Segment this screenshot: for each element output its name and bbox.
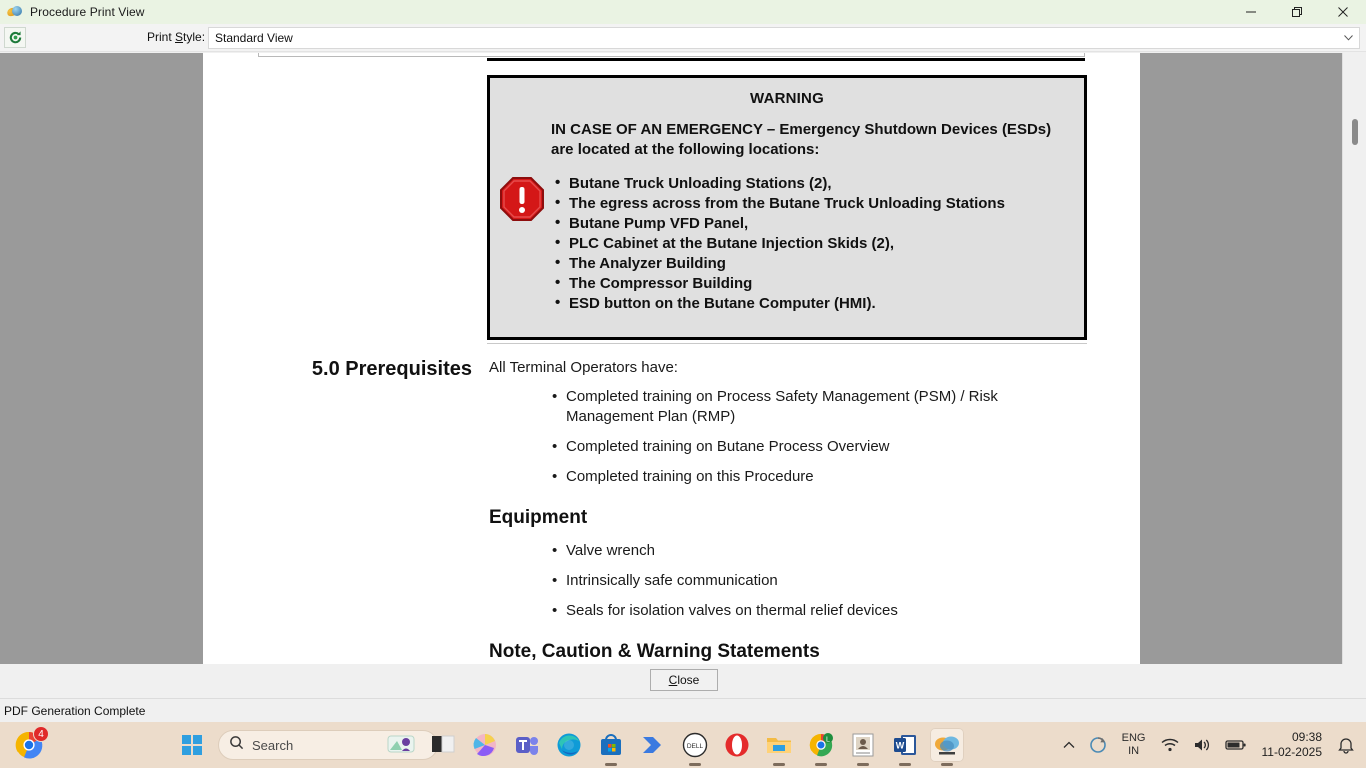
system-tray: ENG IN 09:38 11-02- xyxy=(1056,722,1366,768)
warning-esd-location-list: Butane Truck Unloading Stations (2), The… xyxy=(553,174,1005,314)
procedure-print-view-window: Procedure Print View xyxy=(0,0,1366,722)
list-item: Completed training on Butane Process Ove… xyxy=(489,437,1089,457)
maximize-restore-button[interactable] xyxy=(1274,0,1320,24)
warning-callout-box: WARNING IN CASE OF AN EMERGENCY – Emerge… xyxy=(487,75,1087,340)
list-item: The Analyzer Building xyxy=(553,254,1005,274)
power-automate-icon[interactable] xyxy=(636,728,670,762)
chrome-icon[interactable]: L xyxy=(804,728,838,762)
windows-start-icon[interactable] xyxy=(172,722,212,768)
document-scrollbar[interactable] xyxy=(1342,53,1366,664)
search-icon xyxy=(229,735,244,755)
document-page: WARNING IN CASE OF AN EMERGENCY – Emerge… xyxy=(203,53,1140,664)
section-heading-prerequisites: 5.0 Prerequisites xyxy=(257,358,472,381)
prerequisites-list: Completed training on Process Safety Man… xyxy=(489,387,1089,487)
octagon-exclamation-icon xyxy=(499,176,545,222)
procedure-print-view-icon xyxy=(7,4,23,20)
prerequisites-intro: All Terminal Operators have: xyxy=(489,358,1089,378)
speaker-icon[interactable] xyxy=(1186,722,1218,768)
title-bar: Procedure Print View xyxy=(0,0,1366,24)
list-item: Butane Pump VFD Panel, xyxy=(553,214,1005,234)
file-explorer-icon[interactable] xyxy=(762,728,796,762)
list-item: PLC Cabinet at the Butane Injection Skid… xyxy=(553,234,1005,254)
list-item: Completed training on this Procedure xyxy=(489,467,1089,487)
list-item: Completed training on Process Safety Man… xyxy=(489,387,1089,427)
clock[interactable]: 09:38 11-02-2025 xyxy=(1254,722,1331,768)
teams-icon[interactable] xyxy=(510,728,544,762)
photos-icon[interactable] xyxy=(468,728,502,762)
taskbar-app-buttons: DELL xyxy=(384,722,964,768)
equipment-heading: Equipment xyxy=(489,507,1089,529)
section-rule-top xyxy=(487,58,1085,61)
svg-text:DELL: DELL xyxy=(687,743,704,750)
language-line-2: IN xyxy=(1128,745,1139,758)
button-bar: Close xyxy=(0,664,1366,698)
procedure-print-view-icon[interactable] xyxy=(930,728,964,762)
notification-badge: 4 xyxy=(33,726,49,742)
list-item: The egress across from the Butane Truck … xyxy=(553,194,1005,214)
list-item: Valve wrench xyxy=(489,541,1089,561)
minimize-button[interactable] xyxy=(1228,0,1274,24)
equipment-list: Valve wrench Intrinsically safe communic… xyxy=(489,541,1089,621)
close-dialog-button[interactable]: Close xyxy=(650,669,718,691)
dell-icon[interactable]: DELL xyxy=(678,728,712,762)
chevron-down-icon xyxy=(1344,34,1353,44)
clock-date: 11-02-2025 xyxy=(1262,745,1323,760)
notification-bell-icon[interactable] xyxy=(1330,722,1362,768)
windows-taskbar: 4 Search xyxy=(0,722,1366,768)
search-placeholder: Search xyxy=(252,738,293,753)
window-controls xyxy=(1228,0,1366,24)
list-item: Seals for isolation valves on thermal re… xyxy=(489,601,1089,621)
window-title: Procedure Print View xyxy=(30,5,145,19)
print-style-select[interactable]: Standard View xyxy=(208,27,1360,49)
taskbar-left-group: 4 xyxy=(12,722,46,768)
language-indicator[interactable]: ENG IN xyxy=(1114,722,1154,768)
list-item: Intrinsically safe communication xyxy=(489,571,1089,591)
list-item: Butane Truck Unloading Stations (2), xyxy=(553,174,1005,194)
opera-icon[interactable] xyxy=(720,728,754,762)
battery-icon[interactable] xyxy=(1218,722,1254,768)
svg-text:W: W xyxy=(896,741,905,751)
sync-icon[interactable] xyxy=(1082,722,1114,768)
print-style-value: Standard View xyxy=(209,31,293,45)
language-line-1: ENG xyxy=(1122,732,1146,745)
snipping-tool-icon[interactable] xyxy=(426,728,460,762)
warning-lead-text: IN CASE OF AN EMERGENCY – Emergency Shut… xyxy=(551,120,1064,160)
print-style-label: Print Style: xyxy=(147,30,205,44)
whiteboard-icon[interactable] xyxy=(384,728,418,762)
list-item: The Compressor Building xyxy=(553,274,1005,294)
document-viewer-icon[interactable] xyxy=(846,728,880,762)
chevron-up-icon[interactable] xyxy=(1056,722,1082,768)
partial-table-above xyxy=(258,53,1085,57)
refresh-icon[interactable] xyxy=(4,27,26,48)
status-bar: PDF Generation Complete xyxy=(0,698,1366,722)
warning-title: WARNING xyxy=(490,90,1084,107)
toolbar: Print Style: Standard View xyxy=(0,24,1366,52)
warning-body: Butane Truck Unloading Stations (2), The… xyxy=(490,174,1084,314)
store-icon[interactable] xyxy=(594,728,628,762)
note-caution-warning-heading: Note, Caution & Warning Statements xyxy=(489,641,1089,663)
svg-text:L: L xyxy=(826,737,830,744)
document-viewport[interactable]: WARNING IN CASE OF AN EMERGENCY – Emerge… xyxy=(0,53,1342,664)
wifi-icon[interactable] xyxy=(1154,722,1186,768)
status-message: PDF Generation Complete xyxy=(4,704,145,718)
word-icon[interactable]: W xyxy=(888,728,922,762)
section-divider xyxy=(487,343,1087,344)
list-item: ESD button on the Butane Computer (HMI). xyxy=(553,294,1005,314)
edge-icon[interactable] xyxy=(552,728,586,762)
close-button[interactable] xyxy=(1320,0,1366,24)
chrome-icon[interactable]: 4 xyxy=(12,728,46,762)
scrollbar-thumb[interactable] xyxy=(1352,119,1358,145)
clock-time: 09:38 xyxy=(1292,730,1322,745)
section-content: All Terminal Operators have: Completed t… xyxy=(489,358,1089,663)
